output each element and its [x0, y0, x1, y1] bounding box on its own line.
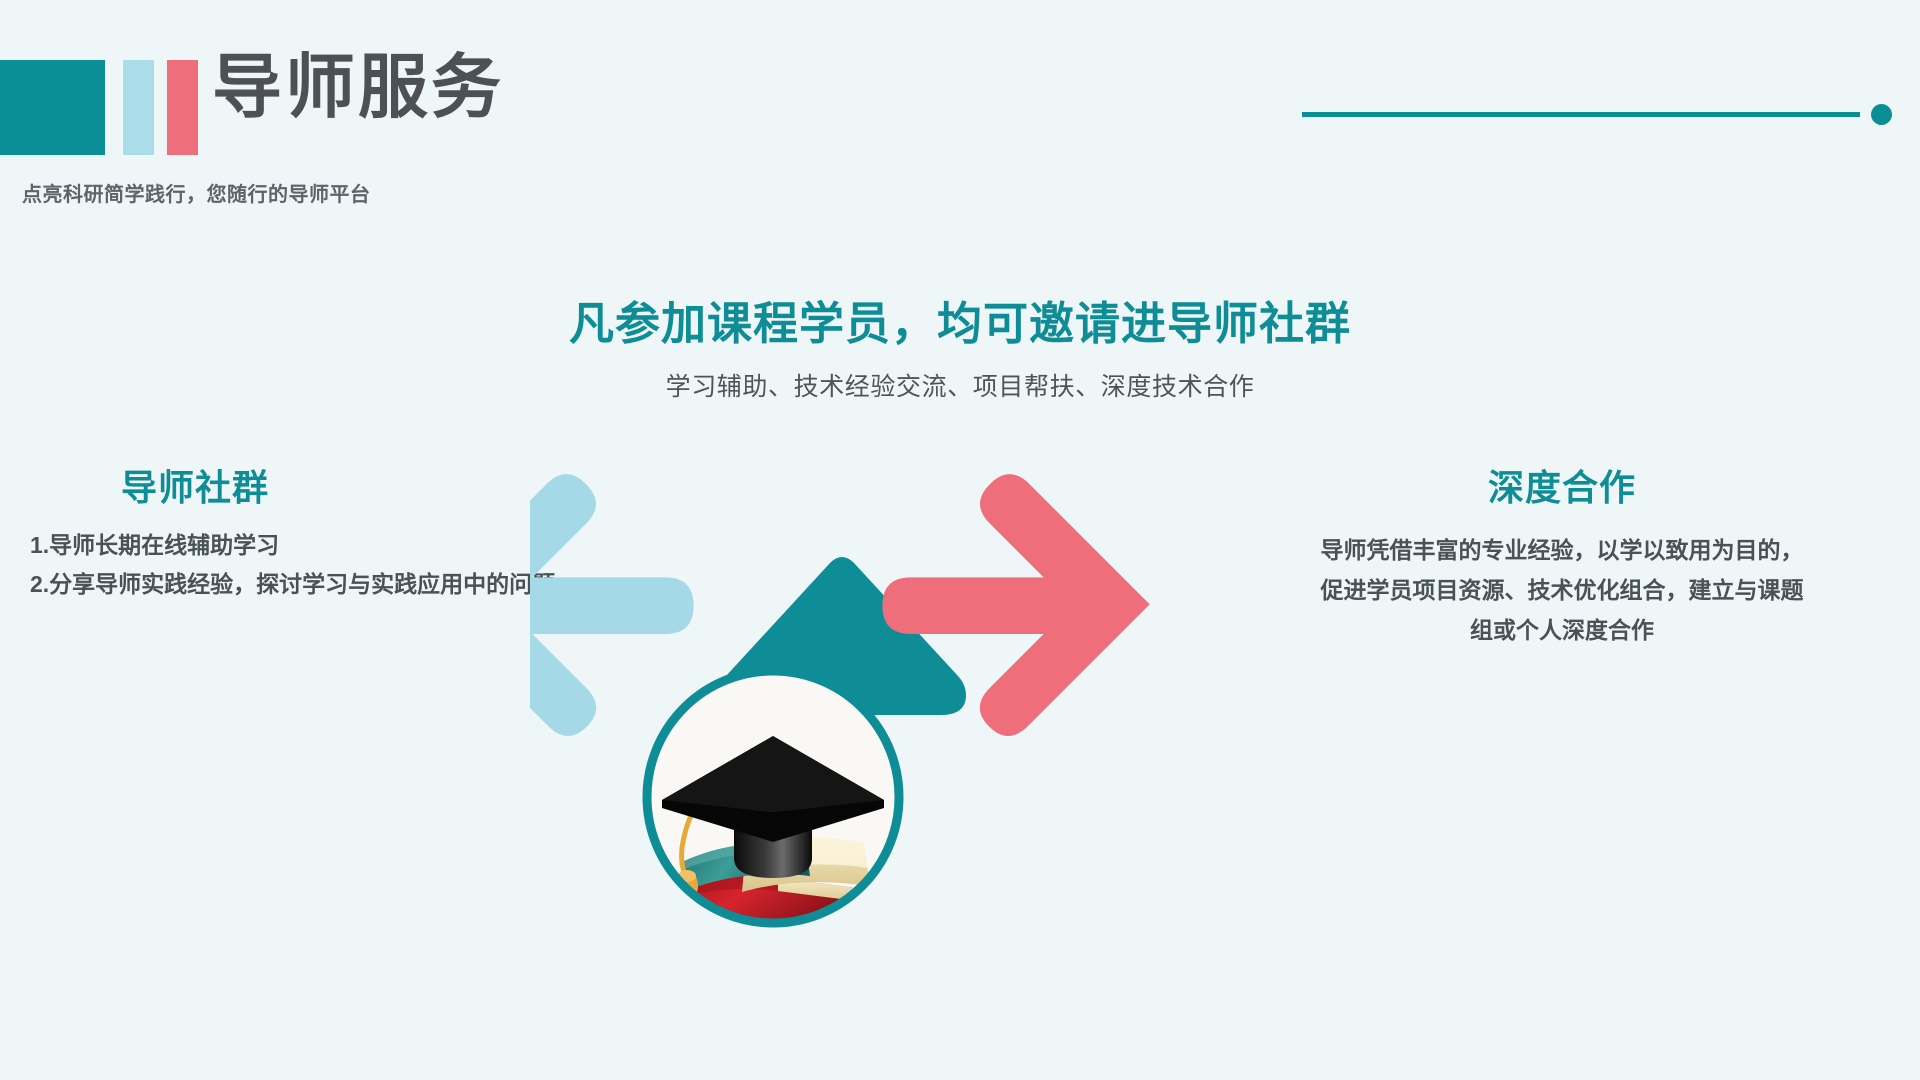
rule-end-dot [1871, 104, 1892, 125]
section-heading: 凡参加课程学员，均可邀请进导师社群 [0, 298, 1920, 350]
page-header: 导师服务 点亮科研简学践行，您随行的导师平台 [0, 0, 1920, 230]
right-column: 深度合作 导师凭借丰富的专业经验，以学以致用为目的， 促进学员项目资源、技术优化… [1232, 468, 1892, 650]
right-column-line-3: 组或个人深度合作 [1232, 610, 1892, 650]
logo-bar-pink [167, 60, 198, 155]
right-column-line-2: 促进学员项目资源、技术优化组合，建立与课题 [1232, 570, 1892, 610]
right-column-body: 导师凭借丰富的专业经验，以学以致用为目的， 促进学员项目资源、技术优化组合，建立… [1232, 530, 1892, 651]
section-subheading: 学习辅助、技术经验交流、项目帮扶、深度技术合作 [0, 367, 1920, 403]
header-decorative-rule [1302, 104, 1892, 124]
right-column-line-1: 导师凭借丰富的专业经验，以学以致用为目的， [1232, 530, 1892, 570]
rule-line [1302, 112, 1860, 117]
graduation-cap-books-illustration [638, 662, 908, 932]
right-column-title: 深度合作 [1232, 468, 1892, 508]
logo-bar-light [123, 60, 154, 155]
page-title: 导师服务 [212, 52, 504, 122]
logo-bar-teal [0, 60, 105, 155]
logo-bars [0, 60, 211, 155]
left-column-title: 导师社群 [30, 468, 360, 508]
page-tagline: 点亮科研简学践行，您随行的导师平台 [22, 178, 371, 207]
